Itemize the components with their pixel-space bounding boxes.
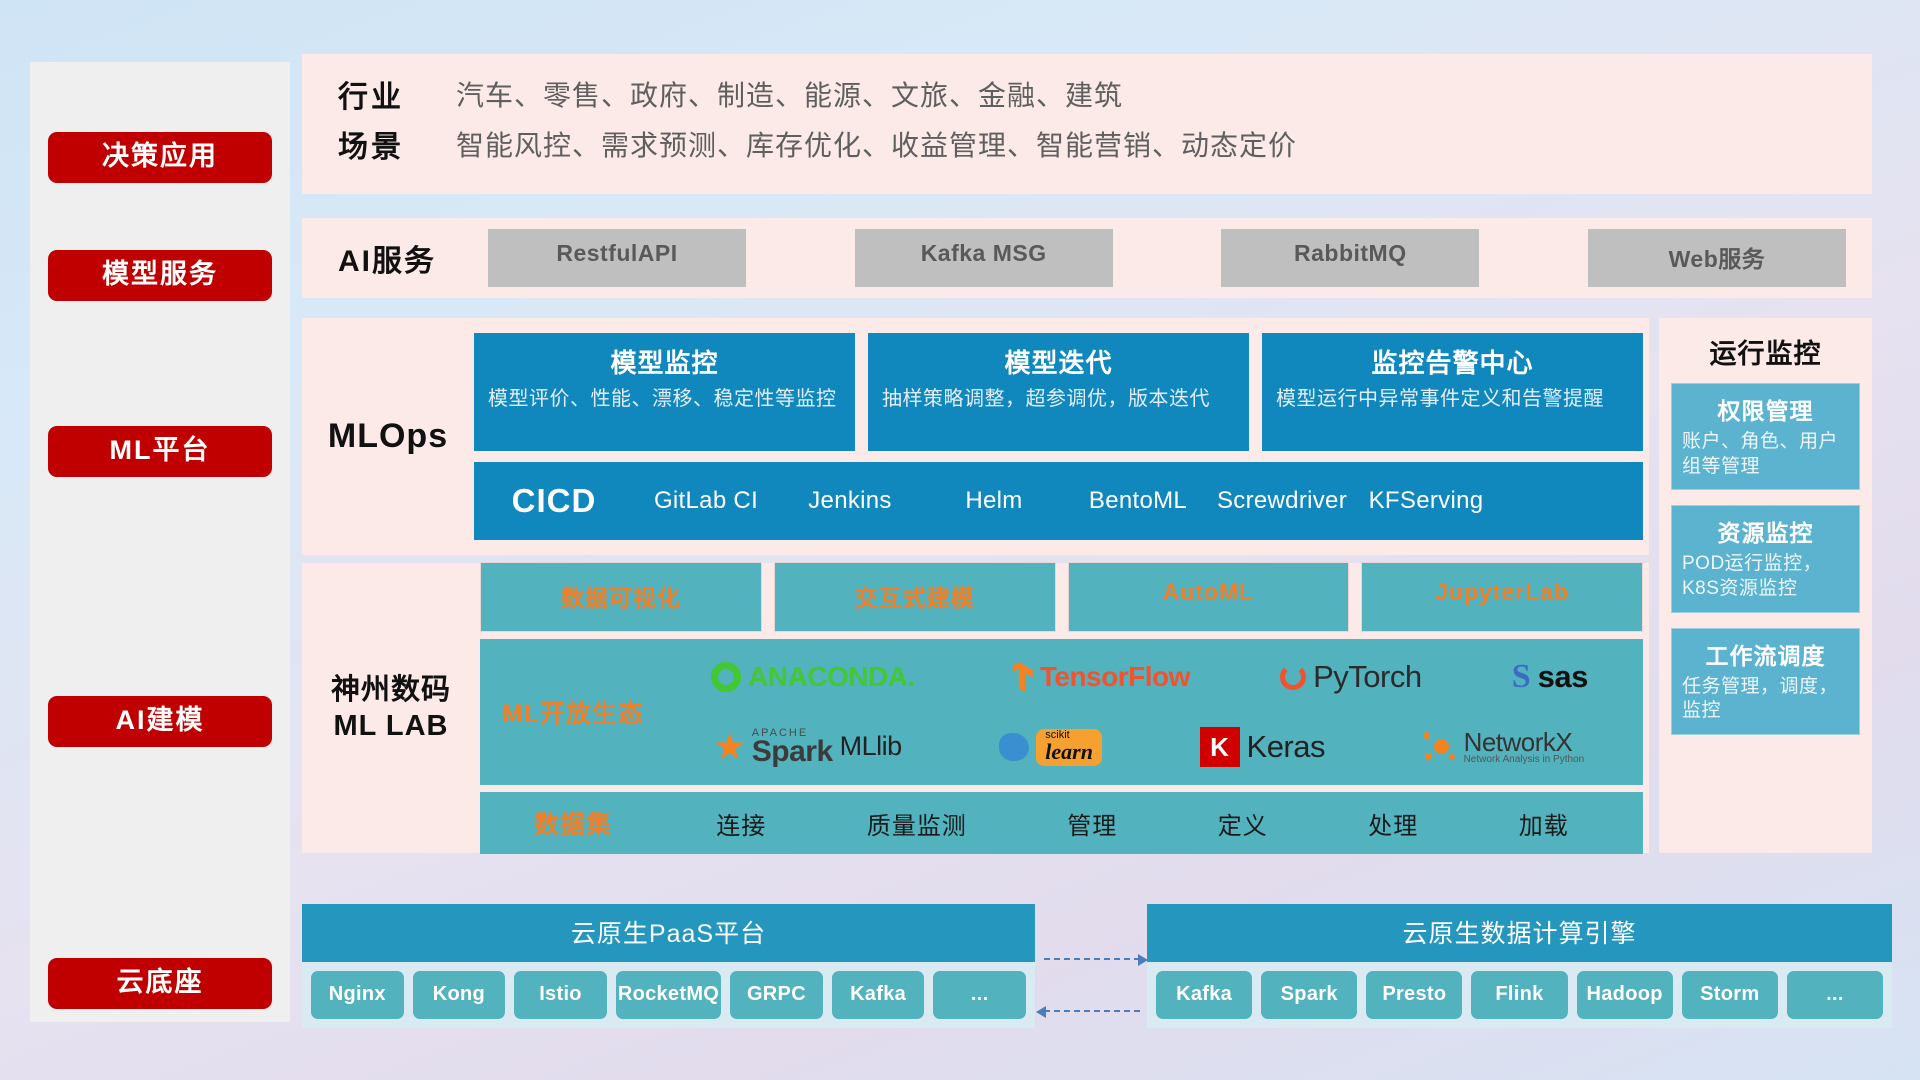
cicd-item-screwdriver[interactable]: Screwdriver bbox=[1210, 487, 1354, 515]
dashed-link-left-icon bbox=[1044, 1010, 1140, 1012]
rail-label-cloud-base: 云底座 bbox=[48, 958, 272, 1009]
ml-lab-label: 神州数码 ML LAB bbox=[302, 672, 480, 745]
cicd-item-list: GitLab CI Jenkins Helm BentoML Screwdriv… bbox=[634, 487, 1643, 515]
scikit-learn-logo: scikit learn bbox=[999, 729, 1102, 766]
ai-services-label: AI服务 bbox=[338, 236, 488, 280]
scenario-value: 智能风控、需求预测、库存优化、收益管理、智能营销、动态定价 bbox=[456, 124, 1297, 164]
ecosystem-logo-row-bottom: APACHE Spark MLlib scikit learn bbox=[666, 714, 1633, 780]
engine-chip-flink[interactable]: Flink bbox=[1471, 971, 1567, 1019]
rail-slot-model-service[interactable]: 模型服务 bbox=[48, 250, 272, 301]
monitor-card-desc: 任务管理，调度，监控 bbox=[1682, 675, 1849, 724]
dashed-link-right-icon bbox=[1044, 958, 1140, 960]
rail-slot-ai-modeling[interactable]: AI建模 bbox=[48, 696, 272, 747]
anaconda-logo: ANACONDA. bbox=[711, 661, 915, 693]
networkx-graph-icon bbox=[1423, 732, 1457, 762]
service-chip-web-service[interactable]: Web服务 bbox=[1588, 229, 1846, 287]
cloud-chip-nginx[interactable]: Nginx bbox=[311, 971, 404, 1019]
monitor-card-resources[interactable]: 资源监控 POD运行监控，K8S资源监控 bbox=[1671, 505, 1860, 612]
dataset-item-load[interactable]: 加载 bbox=[1519, 806, 1569, 841]
keras-logo: K Keras bbox=[1200, 727, 1325, 767]
cloud-paas-chip-list: Nginx Kong Istio RocketMQ GRPC Kafka ... bbox=[302, 962, 1035, 1028]
dataset-item-connect[interactable]: 连接 bbox=[716, 806, 766, 841]
mlops-card-title: 监控告警中心 bbox=[1276, 343, 1629, 380]
cloud-paas-title: 云原生PaaS平台 bbox=[302, 904, 1035, 962]
monitor-card-workflow[interactable]: 工作流调度 任务管理，调度，监控 bbox=[1671, 628, 1860, 735]
mlops-panel: MLOps 模型监控 模型评价、性能、漂移、稳定性等监控 模型迭代 抽样策略调整… bbox=[302, 318, 1649, 555]
tool-chip-interactive-modeling[interactable]: 交互式建模 bbox=[774, 562, 1056, 632]
mllib-wordmark: MLlib bbox=[840, 731, 902, 762]
tool-chip-data-visualization[interactable]: 数据可视化 bbox=[480, 562, 762, 632]
sas-logo: S sas bbox=[1512, 658, 1588, 696]
engine-chip-storm[interactable]: Storm bbox=[1682, 971, 1778, 1019]
cloud-data-engine-title: 云原生数据计算引擎 bbox=[1147, 904, 1892, 962]
tensorflow-wordmark: TensorFlow bbox=[1040, 661, 1190, 693]
mlops-card-title: 模型迭代 bbox=[882, 343, 1235, 380]
dataset-title: 数据集 bbox=[480, 805, 666, 841]
anaconda-wordmark: ANACONDA. bbox=[748, 661, 915, 693]
cicd-title: CICD bbox=[474, 482, 634, 520]
learn-text: learn bbox=[1045, 741, 1093, 763]
dataset-item-manage[interactable]: 管理 bbox=[1067, 806, 1117, 841]
networkx-wordmark: NetworkX bbox=[1464, 729, 1585, 755]
rail-label-ai-modeling: AI建模 bbox=[48, 696, 272, 747]
ml-lab-label-line2: ML LAB bbox=[333, 710, 448, 742]
mlops-card-desc: 抽样策略调整，超参调优，版本迭代 bbox=[882, 386, 1235, 412]
engine-chip-spark[interactable]: Spark bbox=[1261, 971, 1357, 1019]
cicd-item-bentoml[interactable]: BentoML bbox=[1066, 487, 1210, 515]
dashed-arrowhead-left-icon bbox=[1036, 1006, 1046, 1018]
networkx-tagline: Network Analysis in Python bbox=[1464, 755, 1585, 765]
service-chip-rabbitmq[interactable]: RabbitMQ bbox=[1221, 229, 1479, 287]
decision-apps-panel: 行业 汽车、零售、政府、制造、能源、文旅、金融、建筑 场景 智能风控、需求预测、… bbox=[302, 54, 1872, 194]
tool-chip-jupyterlab[interactable]: JupyterLab bbox=[1361, 562, 1643, 632]
scenario-label: 场景 bbox=[338, 122, 456, 166]
tensorflow-logo: TensorFlow bbox=[1005, 661, 1190, 693]
mlops-card-desc: 模型运行中异常事件定义和告警提醒 bbox=[1276, 386, 1629, 412]
sas-wordmark: sas bbox=[1538, 659, 1588, 695]
scikit-blob-icon bbox=[999, 733, 1029, 761]
monitor-card-title: 权限管理 bbox=[1682, 392, 1849, 426]
service-chip-kafka-msg[interactable]: Kafka MSG bbox=[855, 229, 1113, 287]
ecosystem-logo-row-top: ANACONDA. TensorFlow PyTorch S sas bbox=[666, 644, 1633, 710]
rail-slot-cloud-base[interactable]: 云底座 bbox=[48, 958, 272, 1009]
dataset-item-list: 连接 质量监测 管理 定义 处理 加载 bbox=[666, 806, 1643, 841]
anaconda-ring-icon bbox=[711, 662, 741, 692]
industry-label: 行业 bbox=[338, 72, 456, 116]
rail-label-decision-apps: 决策应用 bbox=[48, 132, 272, 183]
modeling-tool-list: 数据可视化 交互式建模 AutoML JupyterLab bbox=[480, 562, 1643, 632]
dataset-bar: 数据集 连接 质量监测 管理 定义 处理 加载 bbox=[480, 792, 1643, 854]
cicd-bar: CICD GitLab CI Jenkins Helm BentoML Scre… bbox=[474, 462, 1643, 540]
cloud-chip-istio[interactable]: Istio bbox=[514, 971, 607, 1019]
keras-wordmark: Keras bbox=[1247, 729, 1325, 765]
ai-services-panel: AI服务 RestfulAPI Kafka MSG RabbitMQ Web服务 bbox=[302, 218, 1872, 298]
keras-mark-icon: K bbox=[1200, 727, 1240, 767]
cicd-item-helm[interactable]: Helm bbox=[922, 487, 1066, 515]
pytorch-flame-icon bbox=[1280, 664, 1306, 690]
dataset-item-quality[interactable]: 质量监测 bbox=[867, 806, 967, 841]
cloud-paas-group: 云原生PaaS平台 Nginx Kong Istio RocketMQ GRPC… bbox=[302, 904, 1035, 1028]
mlops-card-title: 模型监控 bbox=[488, 343, 841, 380]
service-chip-restfulapi[interactable]: RestfulAPI bbox=[488, 229, 746, 287]
mlops-card-model-iteration[interactable]: 模型迭代 抽样策略调整，超参调优，版本迭代 bbox=[868, 333, 1249, 451]
mlops-card-list: 模型监控 模型评价、性能、漂移、稳定性等监控 模型迭代 抽样策略调整，超参调优，… bbox=[474, 333, 1643, 451]
ai-services-chip-list: RestfulAPI Kafka MSG RabbitMQ Web服务 bbox=[488, 229, 1872, 287]
engine-chip-kafka[interactable]: Kafka bbox=[1156, 971, 1252, 1019]
monitor-card-desc: 账户、角色、用户组等管理 bbox=[1682, 430, 1849, 479]
scikit-learn-wordmark: scikit learn bbox=[1036, 729, 1102, 766]
cloud-chip-grpc[interactable]: GRPC bbox=[730, 971, 823, 1019]
cloud-data-engine-group: 云原生数据计算引擎 Kafka Spark Presto Flink Hadoo… bbox=[1147, 904, 1892, 1028]
ai-modeling-panel: 神州数码 ML LAB 数据可视化 交互式建模 AutoML JupyterLa… bbox=[302, 563, 1649, 853]
ml-lab-label-line1: 神州数码 bbox=[331, 674, 451, 706]
spark-mllib-logo: APACHE Spark MLlib bbox=[715, 729, 902, 766]
networkx-logo: NetworkX Network Analysis in Python bbox=[1423, 729, 1585, 765]
industry-value: 汽车、零售、政府、制造、能源、文旅、金融、建筑 bbox=[456, 74, 1123, 114]
dataset-item-define[interactable]: 定义 bbox=[1218, 806, 1268, 841]
monitor-card-permissions[interactable]: 权限管理 账户、角色、用户组等管理 bbox=[1671, 383, 1860, 490]
ml-ecosystem-label: ML开放生态 bbox=[480, 694, 666, 730]
runtime-monitoring-panel: 运行监控 权限管理 账户、角色、用户组等管理 资源监控 POD运行监控，K8S资… bbox=[1659, 318, 1872, 853]
engine-chip-presto[interactable]: Presto bbox=[1366, 971, 1462, 1019]
cicd-item-jenkins[interactable]: Jenkins bbox=[778, 487, 922, 515]
monitor-card-title: 工作流调度 bbox=[1682, 637, 1849, 671]
cicd-item-kfserving[interactable]: KFServing bbox=[1354, 487, 1498, 515]
decision-apps-row-industry: 行业 汽车、零售、政府、制造、能源、文旅、金融、建筑 bbox=[338, 72, 1872, 116]
engine-chip-more[interactable]: ... bbox=[1787, 971, 1883, 1019]
mlops-card-model-monitoring[interactable]: 模型监控 模型评价、性能、漂移、稳定性等监控 bbox=[474, 333, 855, 451]
spark-star-icon bbox=[715, 732, 745, 762]
mlops-card-alert-center[interactable]: 监控告警中心 模型运行中异常事件定义和告警提醒 bbox=[1262, 333, 1643, 451]
rail-label-model-service: 模型服务 bbox=[48, 250, 272, 301]
monitor-card-desc: POD运行监控，K8S资源监控 bbox=[1682, 552, 1849, 601]
tensorflow-mark-icon bbox=[1005, 662, 1033, 692]
runtime-monitoring-title: 运行监控 bbox=[1659, 318, 1872, 383]
mlops-label: MLOps bbox=[302, 417, 474, 456]
cloud-chip-kafka[interactable]: Kafka bbox=[832, 971, 925, 1019]
cloud-chip-rocketmq[interactable]: RocketMQ bbox=[616, 971, 721, 1019]
cloud-chip-more[interactable]: ... bbox=[933, 971, 1026, 1019]
dataset-item-process[interactable]: 处理 bbox=[1368, 806, 1418, 841]
rail-slot-decision-apps[interactable]: 决策应用 bbox=[48, 132, 272, 183]
pytorch-logo: PyTorch bbox=[1280, 659, 1421, 695]
cloud-chip-kong[interactable]: Kong bbox=[413, 971, 506, 1019]
ml-ecosystem-bar: ML开放生态 ANACONDA. TensorFlow bbox=[480, 639, 1643, 785]
stack-layer-rail: 决策应用 模型服务 ML平台 AI建模 云底座 bbox=[30, 62, 290, 1022]
decision-apps-row-scenario: 场景 智能风控、需求预测、库存优化、收益管理、智能营销、动态定价 bbox=[338, 122, 1872, 166]
sas-swirl-icon: S bbox=[1512, 658, 1531, 696]
spark-wordmark: Spark bbox=[752, 738, 833, 765]
tool-chip-automl[interactable]: AutoML bbox=[1068, 562, 1350, 632]
monitor-card-title: 资源监控 bbox=[1682, 514, 1849, 548]
cloud-data-engine-chip-list: Kafka Spark Presto Flink Hadoop Storm ..… bbox=[1147, 962, 1892, 1028]
engine-chip-hadoop[interactable]: Hadoop bbox=[1577, 971, 1673, 1019]
rail-slot-ml-platform[interactable]: ML平台 bbox=[48, 426, 272, 477]
cicd-item-gitlab-ci[interactable]: GitLab CI bbox=[634, 487, 778, 515]
mlops-card-desc: 模型评价、性能、漂移、稳定性等监控 bbox=[488, 386, 841, 412]
rail-label-ml-platform: ML平台 bbox=[48, 426, 272, 477]
pytorch-wordmark: PyTorch bbox=[1313, 659, 1421, 695]
